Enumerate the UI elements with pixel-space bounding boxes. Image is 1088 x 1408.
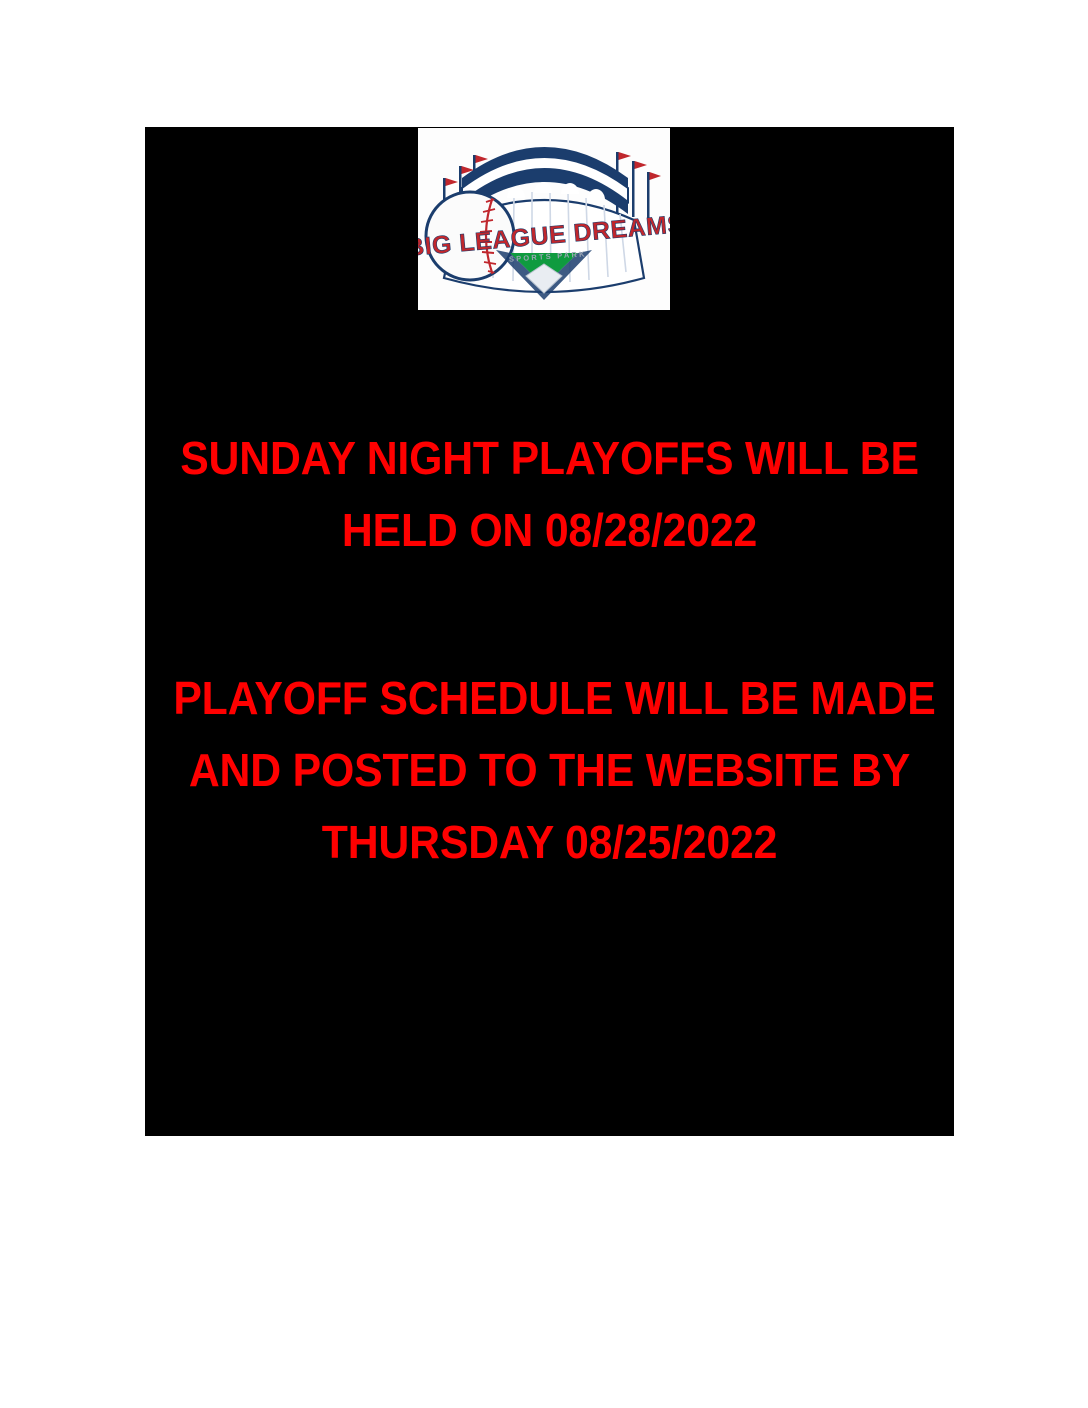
logo-artwork: BIG LEAGUE DREAMS SPORTS PARK bbox=[418, 128, 670, 310]
message-line: SUNDAY NIGHT PLAYOFFS WILL BE bbox=[173, 422, 925, 494]
message-block-playoff-schedule-posting: PLAYOFF SCHEDULE WILL BE MADE AND POSTED… bbox=[145, 662, 954, 878]
message-line: AND POSTED TO THE WEBSITE BY bbox=[173, 734, 925, 806]
message-line: PLAYOFF SCHEDULE WILL BE MADE bbox=[173, 662, 925, 734]
big-league-dreams-logo: BIG LEAGUE DREAMS SPORTS PARK bbox=[418, 128, 670, 310]
announcement-text-stack: SUNDAY NIGHT PLAYOFFS WILL BE HELD ON 08… bbox=[145, 422, 954, 878]
announcement-panel: BIG LEAGUE DREAMS SPORTS PARK SUNDAY NIG… bbox=[145, 127, 954, 1136]
message-block-sunday-night-playoffs: SUNDAY NIGHT PLAYOFFS WILL BE HELD ON 08… bbox=[145, 422, 954, 566]
message-line: HELD ON 08/28/2022 bbox=[173, 494, 925, 566]
message-line: THURSDAY 08/25/2022 bbox=[173, 806, 925, 878]
